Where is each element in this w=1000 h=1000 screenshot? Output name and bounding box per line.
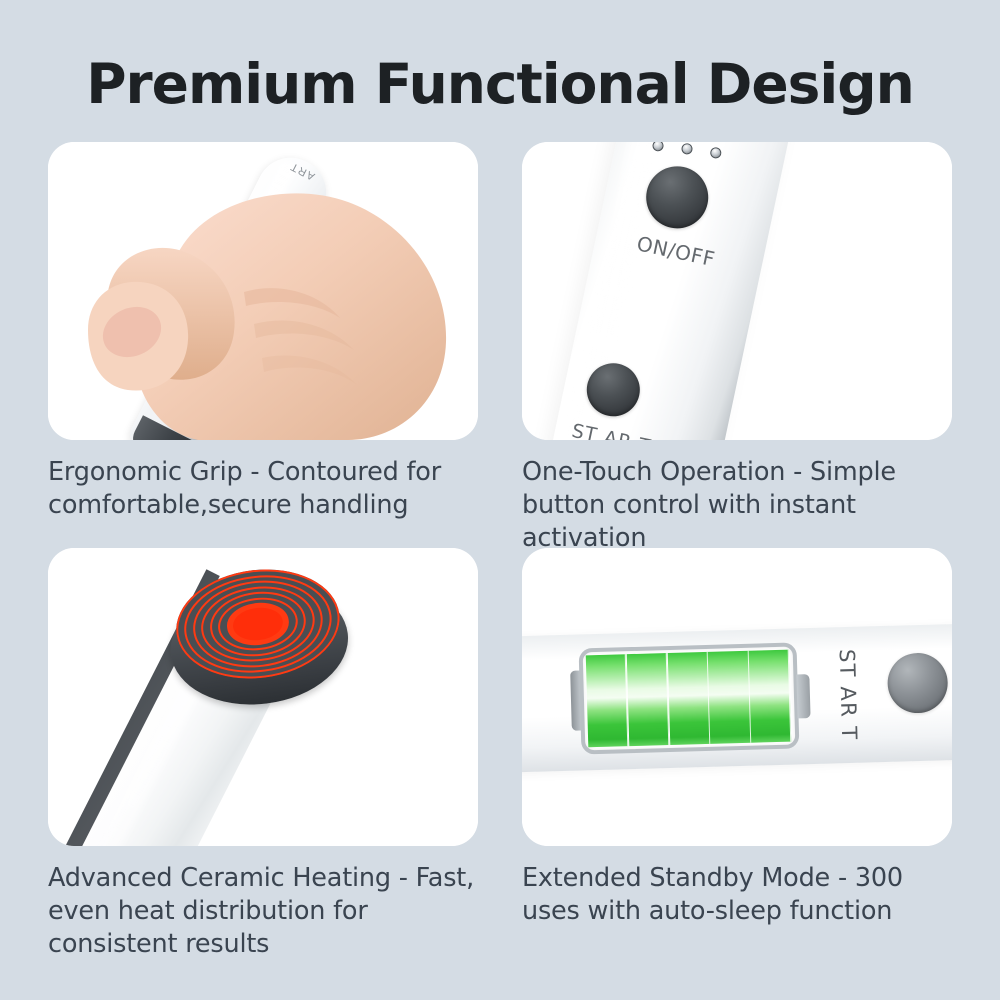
infographic-page: Premium Functional Design ART bbox=[0, 0, 1000, 1000]
feature-card-extended-standby: ST AR T bbox=[522, 548, 952, 846]
power-button[interactable] bbox=[640, 161, 714, 235]
hand-illustration bbox=[48, 142, 478, 440]
page-title: Premium Functional Design bbox=[0, 52, 1000, 116]
feature-card-ergonomic-grip: ART bbox=[48, 142, 478, 440]
power-button-label: ON/OFF bbox=[620, 228, 733, 274]
battery-icon bbox=[579, 642, 800, 754]
level-indicator-leds bbox=[652, 142, 749, 170]
feature-card-one-touch-operation: 1 2 3 ON/OFF ST AR T bbox=[522, 142, 952, 440]
ceramic-heating-image bbox=[48, 548, 478, 846]
battery-segment-3 bbox=[667, 652, 710, 745]
caption-extended-standby: Extended Standby Mode - 300 uses with au… bbox=[522, 862, 962, 928]
feature-card-ceramic-heating bbox=[48, 548, 478, 846]
battery-segment-2 bbox=[627, 653, 670, 746]
one-touch-operation-image: 1 2 3 ON/OFF ST AR T bbox=[522, 142, 952, 440]
battery-segment-1 bbox=[586, 654, 629, 747]
battery-segment-5 bbox=[749, 650, 792, 743]
device-body: ST AR T bbox=[522, 623, 952, 772]
caption-ceramic-heating: Advanced Ceramic Heating - Fast, even he… bbox=[48, 862, 478, 961]
led-icon-3 bbox=[709, 146, 722, 159]
ceramic-heating-head bbox=[162, 560, 356, 723]
ergonomic-grip-image: ART bbox=[48, 142, 478, 440]
device-control-panel: 1 2 3 ON/OFF ST AR T bbox=[538, 142, 800, 440]
start-button[interactable] bbox=[887, 652, 949, 714]
start-button-label: ST AR T bbox=[835, 649, 862, 741]
led-icon-2 bbox=[680, 142, 693, 155]
start-button-label: ST AR T bbox=[555, 417, 667, 440]
battery-segment-4 bbox=[708, 651, 751, 744]
caption-ergonomic-grip: Ergonomic Grip - Contoured for comfortab… bbox=[48, 456, 468, 522]
extended-standby-image: ST AR T bbox=[522, 548, 952, 846]
battery-shell bbox=[579, 642, 800, 754]
caption-one-touch-operation: One-Touch Operation - Simple button cont… bbox=[522, 456, 972, 555]
battery-terminal bbox=[796, 674, 810, 718]
